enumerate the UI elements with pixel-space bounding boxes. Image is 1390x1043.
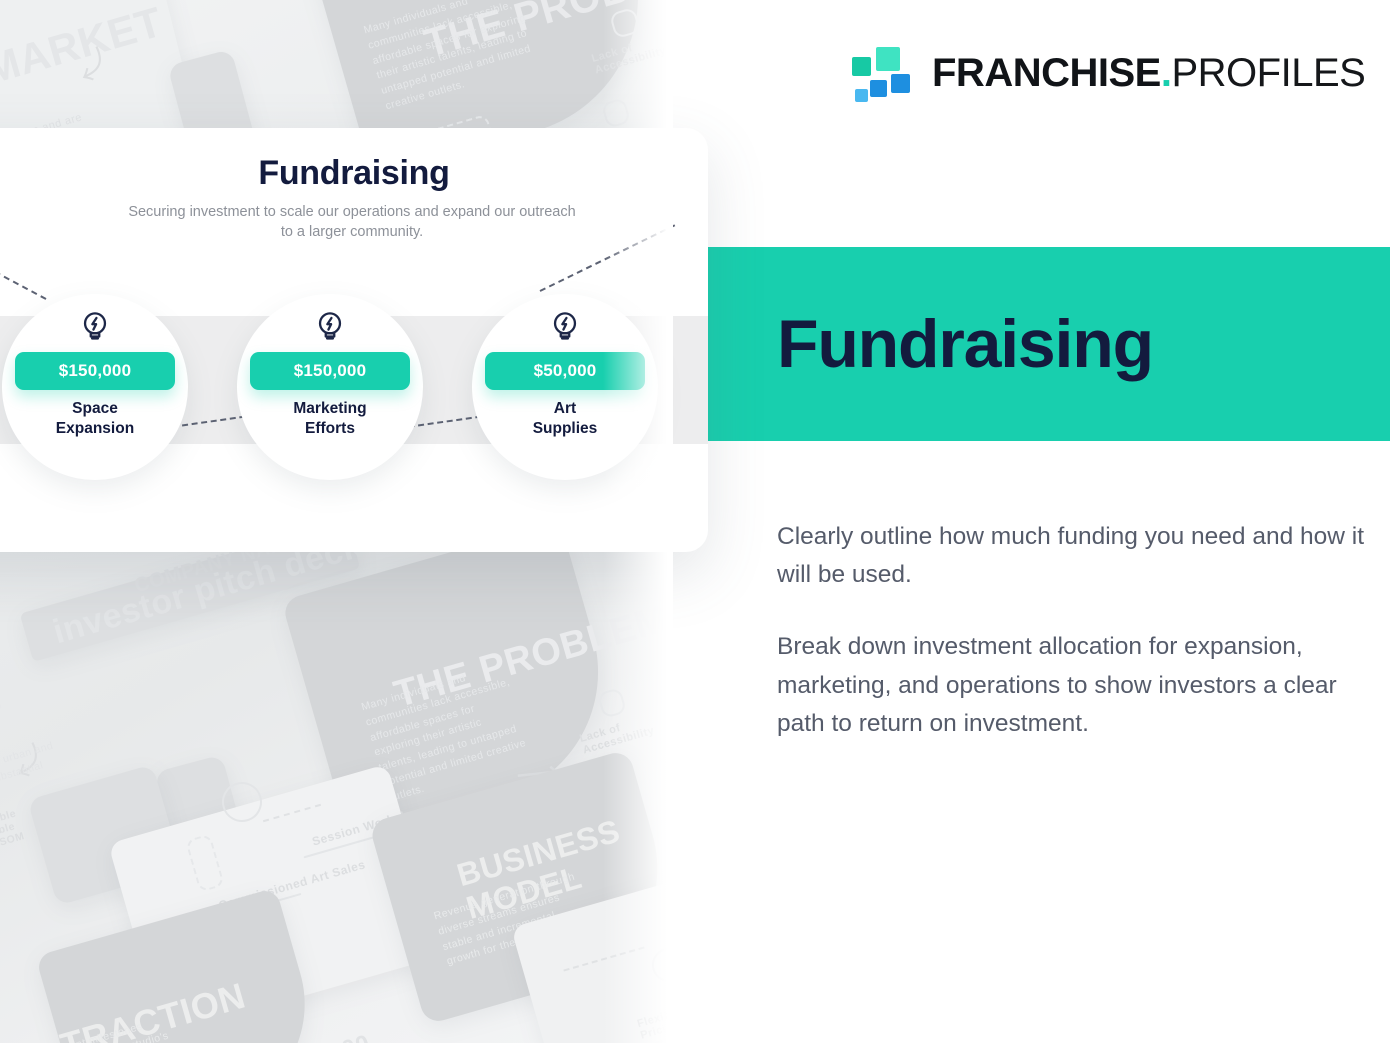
funding-label-line1: Marketing: [293, 400, 366, 417]
funding-label-line1: Space: [72, 400, 118, 417]
logo-square-blue: [891, 74, 910, 93]
section-body-copy: Clearly outline how much funding you nee…: [777, 518, 1367, 743]
brand-word-dot: .: [1161, 51, 1172, 96]
funding-node-label: Space Expansion: [56, 399, 134, 439]
funding-node-marketing-efforts[interactable]: $150,000 Marketing Efforts: [237, 294, 423, 480]
lightbulb-icon: [550, 310, 580, 344]
funding-amount-pill: $150,000: [250, 352, 410, 390]
funding-node-row: $150,000 Space Expansion: [0, 286, 708, 552]
lightbulb-icon: [315, 310, 345, 344]
ghost-label-market-lower: T: [0, 698, 10, 741]
card-subtitle: Securing investment to scale our operati…: [122, 203, 582, 242]
funding-label-line2: Efforts: [305, 420, 355, 437]
fundraising-feature-card: Fundraising Securing investment to scale…: [0, 128, 708, 552]
section-title: Fundraising: [777, 305, 1153, 383]
slide-canvas: MARKET from in urban and are substantial…: [0, 0, 1390, 1043]
card-diagram-stage: $150,000 Space Expansion: [0, 286, 708, 552]
funding-label-line2: Expansion: [56, 420, 134, 437]
funding-node-label: Marketing Efforts: [293, 399, 366, 439]
funding-amount-pill: $150,000: [15, 352, 175, 390]
connector-incoming-left: [0, 246, 46, 299]
brand-logo[interactable]: FRANCHISE.PROFILES: [852, 44, 1365, 102]
franchise-profiles-logo-mark: [852, 44, 910, 102]
brand-word-secondary: PROFILES: [1171, 51, 1365, 96]
funding-node-space-expansion[interactable]: $150,000 Space Expansion: [2, 294, 188, 480]
funding-node-label: Art Supplies: [533, 399, 598, 439]
brand-word-primary: FRANCHISE: [932, 51, 1161, 96]
logo-square-blue-mid: [870, 80, 887, 97]
logo-square-blue-light: [855, 89, 868, 102]
ghost-body-market-lower: from in urban and are substantial: [0, 733, 78, 794]
brand-wordmark: FRANCHISE.PROFILES: [932, 51, 1365, 96]
body-paragraph-1: Clearly outline how much funding you nee…: [777, 518, 1367, 594]
background-right-fade: [603, 0, 673, 1043]
card-header: Fundraising Securing investment to scale…: [0, 128, 708, 242]
lightbulb-icon: [80, 310, 110, 344]
ghost-metric-visitors-value: 1,000: [305, 1030, 373, 1043]
section-banner: Fundraising: [705, 247, 1390, 441]
card-title: Fundraising: [30, 154, 678, 193]
body-paragraph-2: Break down investment allocation for exp…: [777, 628, 1367, 743]
funding-label-line2: Supplies: [533, 420, 598, 437]
funding-label-line1: Art: [554, 400, 576, 417]
logo-square-teal-dark: [852, 57, 871, 76]
logo-square-teal-light: [876, 47, 900, 71]
